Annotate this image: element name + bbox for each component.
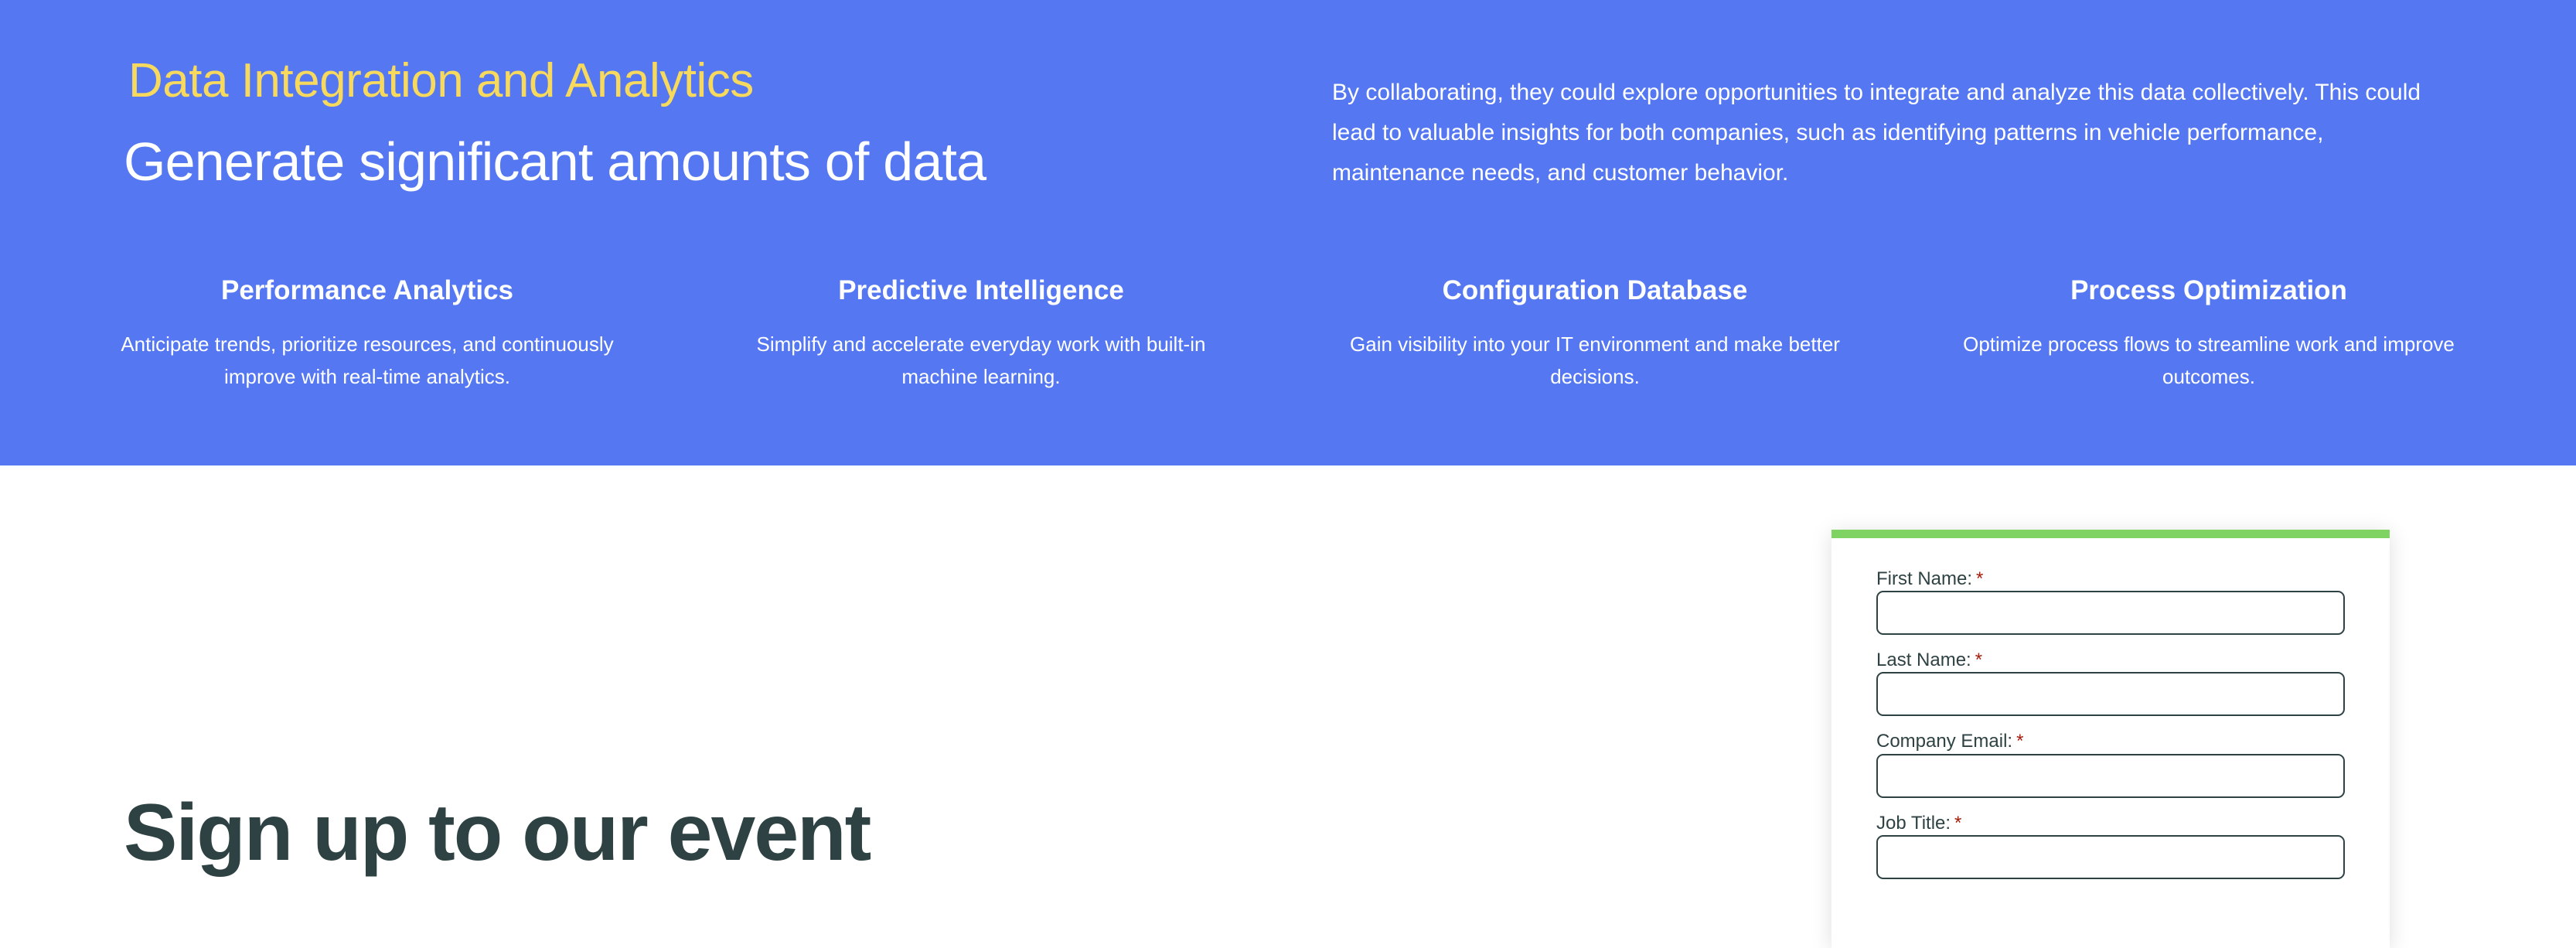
feature-title: Process Optimization — [1934, 275, 2483, 308]
last-name-label-text: Last Name: — [1876, 650, 1971, 670]
form-accent-bar — [1831, 530, 2390, 538]
required-asterisk-icon: * — [1976, 568, 1983, 589]
last-name-input[interactable] — [1876, 672, 2345, 716]
first-name-label: First Name:* — [1876, 568, 1983, 589]
last-name-label: Last Name:* — [1876, 650, 1982, 670]
required-asterisk-icon: * — [1975, 650, 1982, 670]
form-field-last-name: Last Name:* — [1876, 648, 2345, 716]
required-asterisk-icon: * — [1954, 813, 1961, 834]
feature-description: Anticipate trends, prioritize resources,… — [93, 328, 642, 393]
page-title: Generate significant amounts of data — [124, 130, 986, 194]
form-field-job-title: Job Title:* — [1876, 811, 2345, 879]
feature-column-configuration-database: Configuration Database Gain visibility i… — [1320, 275, 1869, 393]
signup-section: Sign up to our event First Name:* Last N… — [0, 465, 2576, 948]
feature-title: Performance Analytics — [93, 275, 642, 308]
company-email-label: Company Email:* — [1876, 731, 2023, 752]
hero-eyebrow: Data Integration and Analytics — [128, 53, 754, 109]
feature-description: Gain visibility into your IT environment… — [1320, 328, 1869, 393]
company-email-input[interactable] — [1876, 754, 2345, 798]
first-name-label-text: First Name: — [1876, 568, 1972, 589]
feature-column-performance-analytics: Performance Analytics Anticipate trends,… — [93, 275, 642, 393]
feature-columns: Performance Analytics Anticipate trends,… — [93, 275, 2483, 393]
hero-paragraph: By collaborating, they could explore opp… — [1332, 73, 2445, 193]
hero-top-row: Data Integration and Analytics Generate … — [0, 0, 2576, 232]
feature-column-predictive-intelligence: Predictive Intelligence Simplify and acc… — [707, 275, 1256, 393]
job-title-input[interactable] — [1876, 835, 2345, 879]
hero-section: Data Integration and Analytics Generate … — [0, 0, 2576, 465]
signup-heading: Sign up to our event — [124, 789, 870, 877]
company-email-label-text: Company Email: — [1876, 731, 2012, 752]
job-title-label: Job Title:* — [1876, 813, 1961, 834]
signup-form-card: First Name:* Last Name:* Company Email:* — [1831, 530, 2390, 948]
feature-title: Predictive Intelligence — [707, 275, 1256, 308]
feature-description: Optimize process flows to streamline wor… — [1934, 328, 2483, 393]
form-field-first-name: First Name:* — [1876, 567, 2345, 635]
feature-column-process-optimization: Process Optimization Optimize process fl… — [1934, 275, 2483, 393]
signup-form: First Name:* Last Name:* Company Email:* — [1831, 538, 2390, 879]
form-field-company-email: Company Email:* — [1876, 729, 2345, 797]
job-title-label-text: Job Title: — [1876, 813, 1951, 834]
required-asterisk-icon: * — [2016, 731, 2023, 752]
feature-title: Configuration Database — [1320, 275, 1869, 308]
first-name-input[interactable] — [1876, 591, 2345, 635]
page-root: Data Integration and Analytics Generate … — [0, 0, 2576, 948]
feature-description: Simplify and accelerate everyday work wi… — [707, 328, 1256, 393]
